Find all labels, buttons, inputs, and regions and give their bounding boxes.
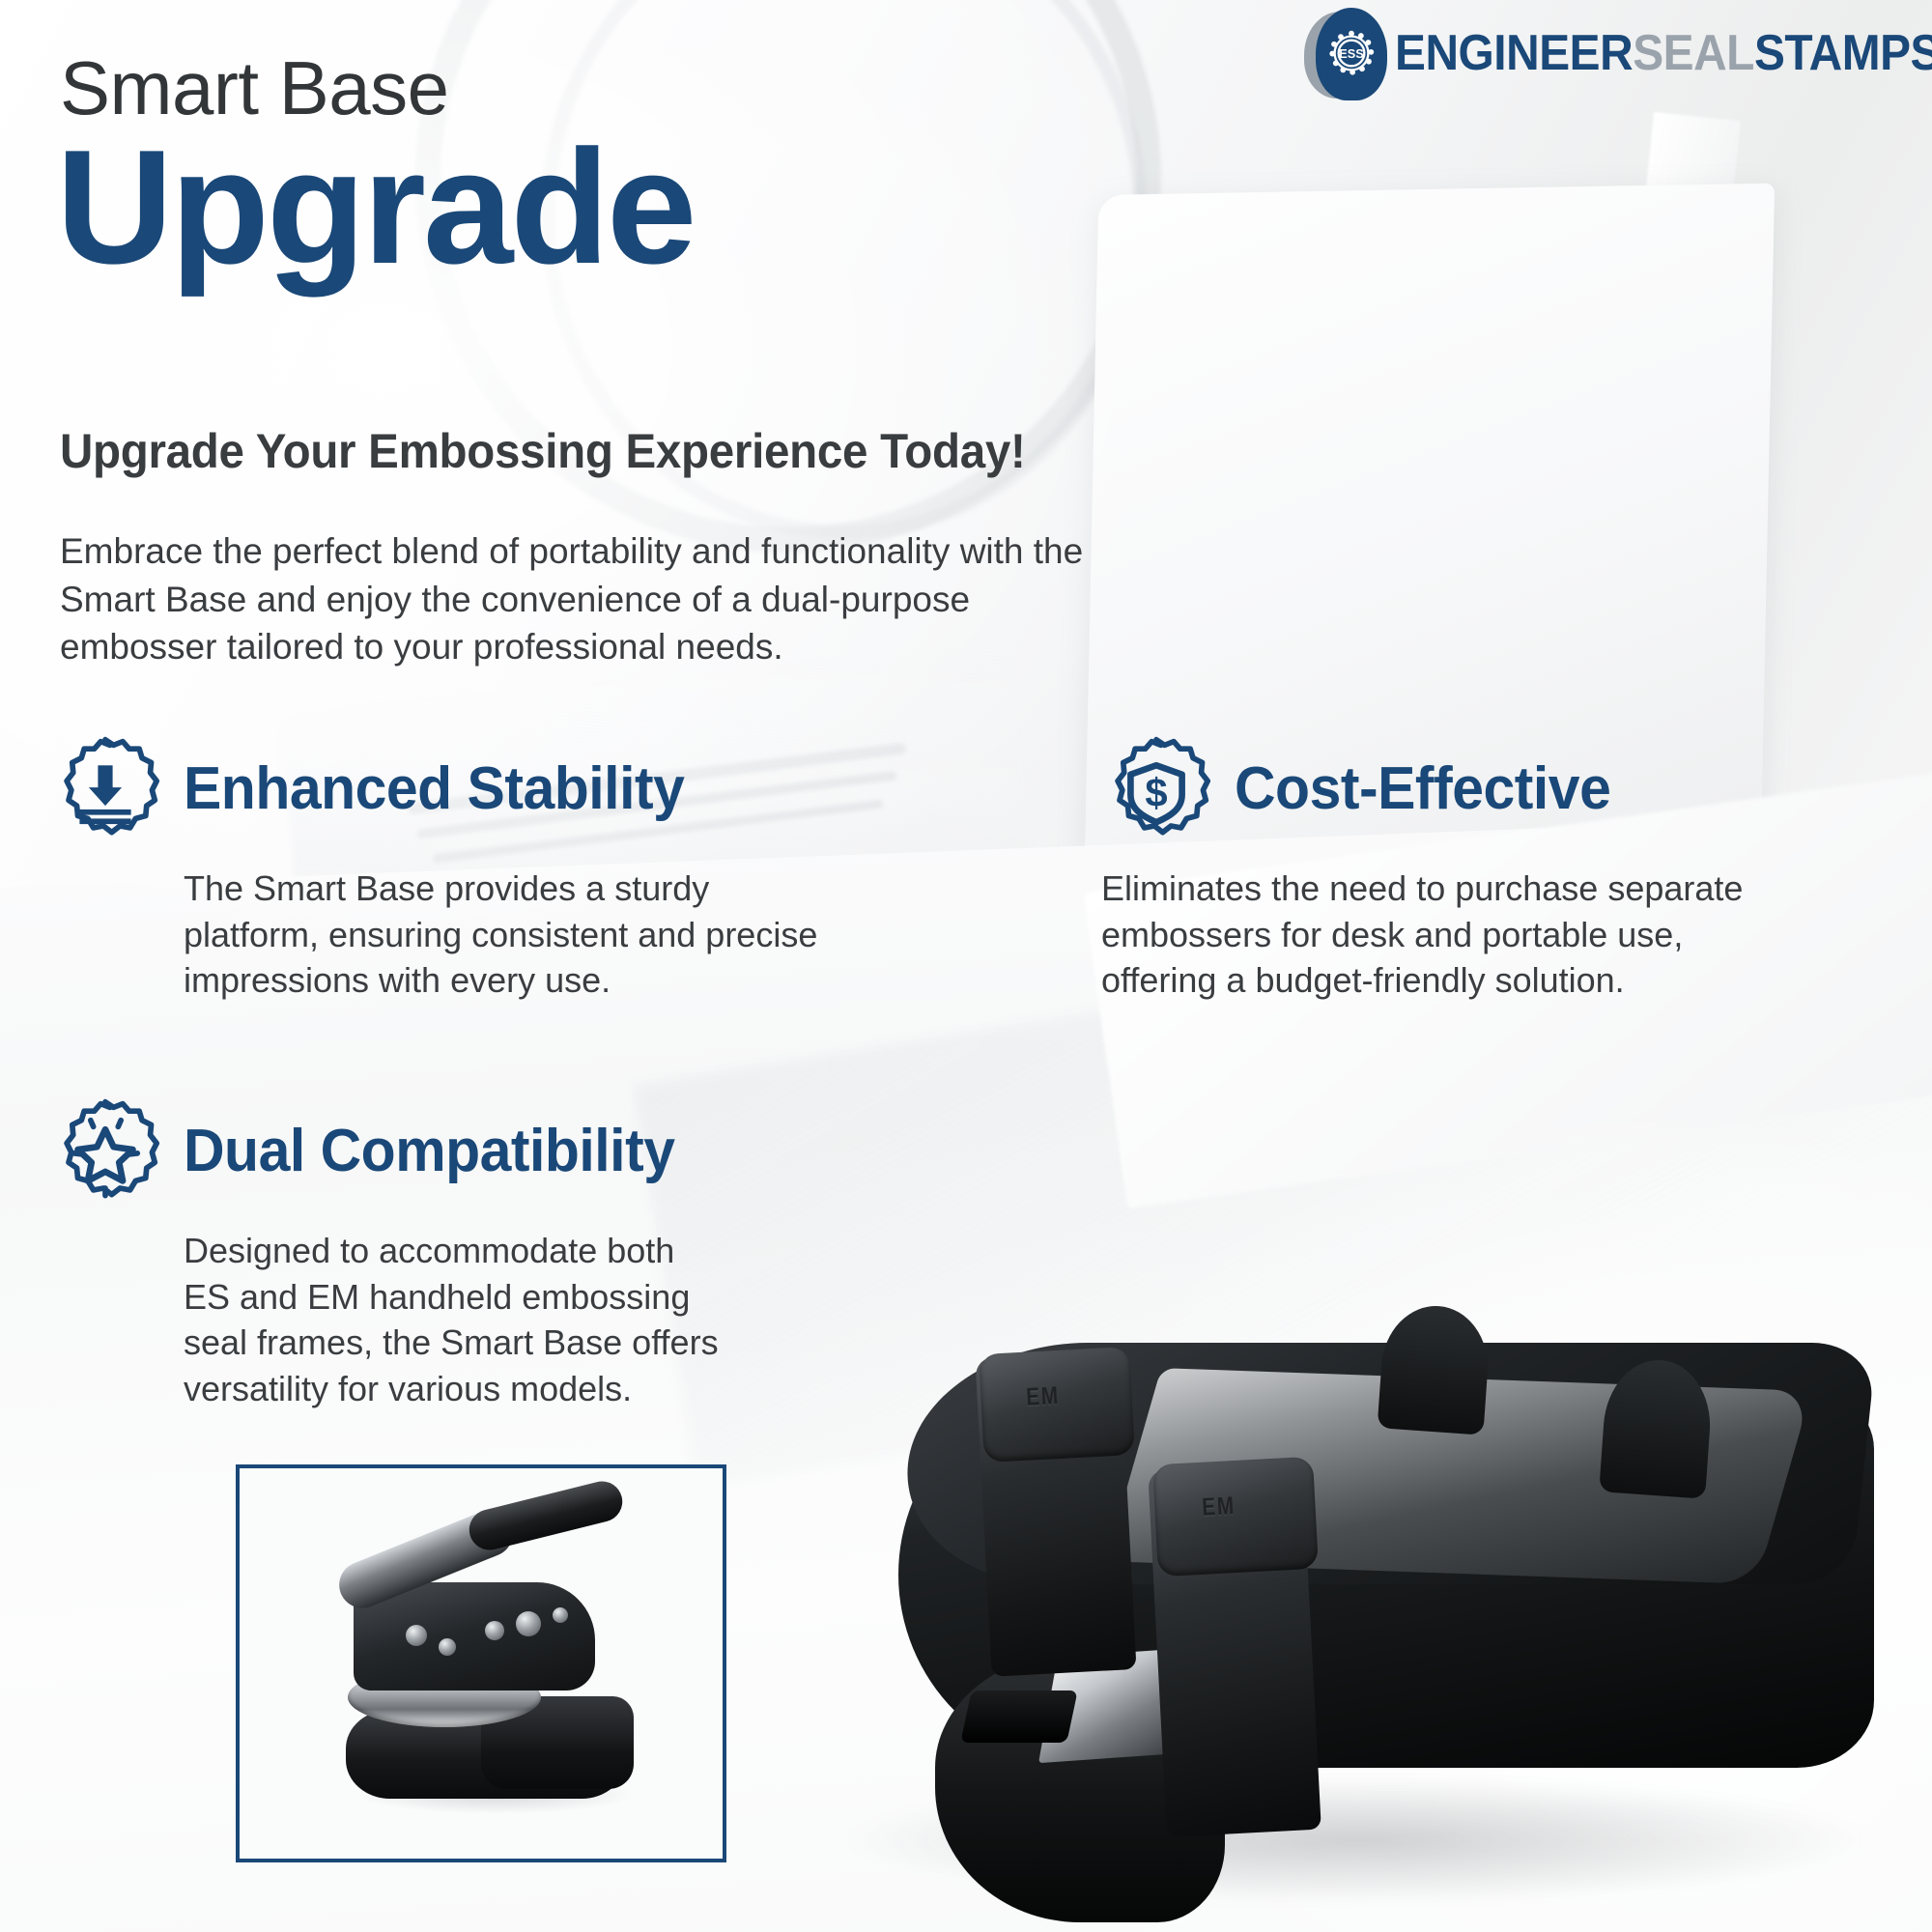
inset-photo-alt: Black handheld embossing seal frame moun…	[240, 1468, 241, 1469]
brand-wordmark: ENGINEERSEALSTAMPS .COM	[1395, 28, 1932, 80]
feature-dual-compatibility: Dual Compatibility Designed to accommoda…	[50, 1096, 726, 1411]
feature-header: $ Cost-Effective	[1101, 734, 1903, 844]
feature-body: Eliminates the need to purchase separate…	[1101, 866, 1777, 1004]
feature-cost-effective: $ Cost-Effective Eliminates the need to …	[1101, 734, 1903, 1004]
main-photo-alt: Smart Base desk embosser base with two a…	[676, 1236, 677, 1237]
adapter-label-em-2: EM	[1202, 1491, 1236, 1522]
ess-shield-badge-icon: ESS	[1304, 8, 1387, 100]
wordmark-engineer: ENGINEER	[1395, 28, 1633, 78]
feature-header: Enhanced Stability	[50, 734, 852, 844]
handheld-embosser-on-smart-base-photo: Black handheld embossing seal frame moun…	[236, 1464, 726, 1862]
feature-body: Designed to accommodate both ES and EM h…	[184, 1228, 724, 1411]
infographic-canvas: ESS ENGINEERSEALSTAMPS .COM Smart Base U…	[0, 0, 1932, 1932]
feature-header: Dual Compatibility	[50, 1096, 726, 1207]
intro-paragraph: Embrace the perfect blend of portability…	[60, 527, 1094, 671]
feature-body: The Smart Base provides a sturdy platfor…	[184, 866, 852, 1004]
star-sparkle-badge-icon	[50, 1096, 160, 1207]
ess-badge-text: ESS	[1339, 46, 1364, 61]
wordmark-seal: SEAL	[1633, 28, 1754, 78]
press-down-arrow-badge-icon	[50, 734, 160, 844]
adapter-label-em-1: EM	[1026, 1380, 1061, 1412]
feature-title: Enhanced Stability	[184, 759, 684, 819]
svg-text:$: $	[1145, 770, 1167, 815]
brand-logo[interactable]: ESS ENGINEERSEALSTAMPS .COM	[1304, 10, 1932, 99]
shield-dollar-badge-icon: $	[1101, 734, 1211, 844]
feature-enhanced-stability: Enhanced Stability The Smart Base provid…	[50, 734, 852, 1004]
page-title: Upgrade	[56, 126, 694, 288]
wordmark-stamps: STAMPS	[1754, 28, 1932, 78]
smart-base-product-photo: EM EM Smart Base desk embosser base with…	[676, 1236, 1932, 1932]
feature-title: Cost-Effective	[1235, 759, 1610, 819]
subheadline: Upgrade Your Embossing Experience Today!	[60, 423, 1026, 479]
eyebrow-title: Smart Base	[60, 50, 448, 126]
feature-title: Dual Compatibility	[184, 1122, 675, 1181]
